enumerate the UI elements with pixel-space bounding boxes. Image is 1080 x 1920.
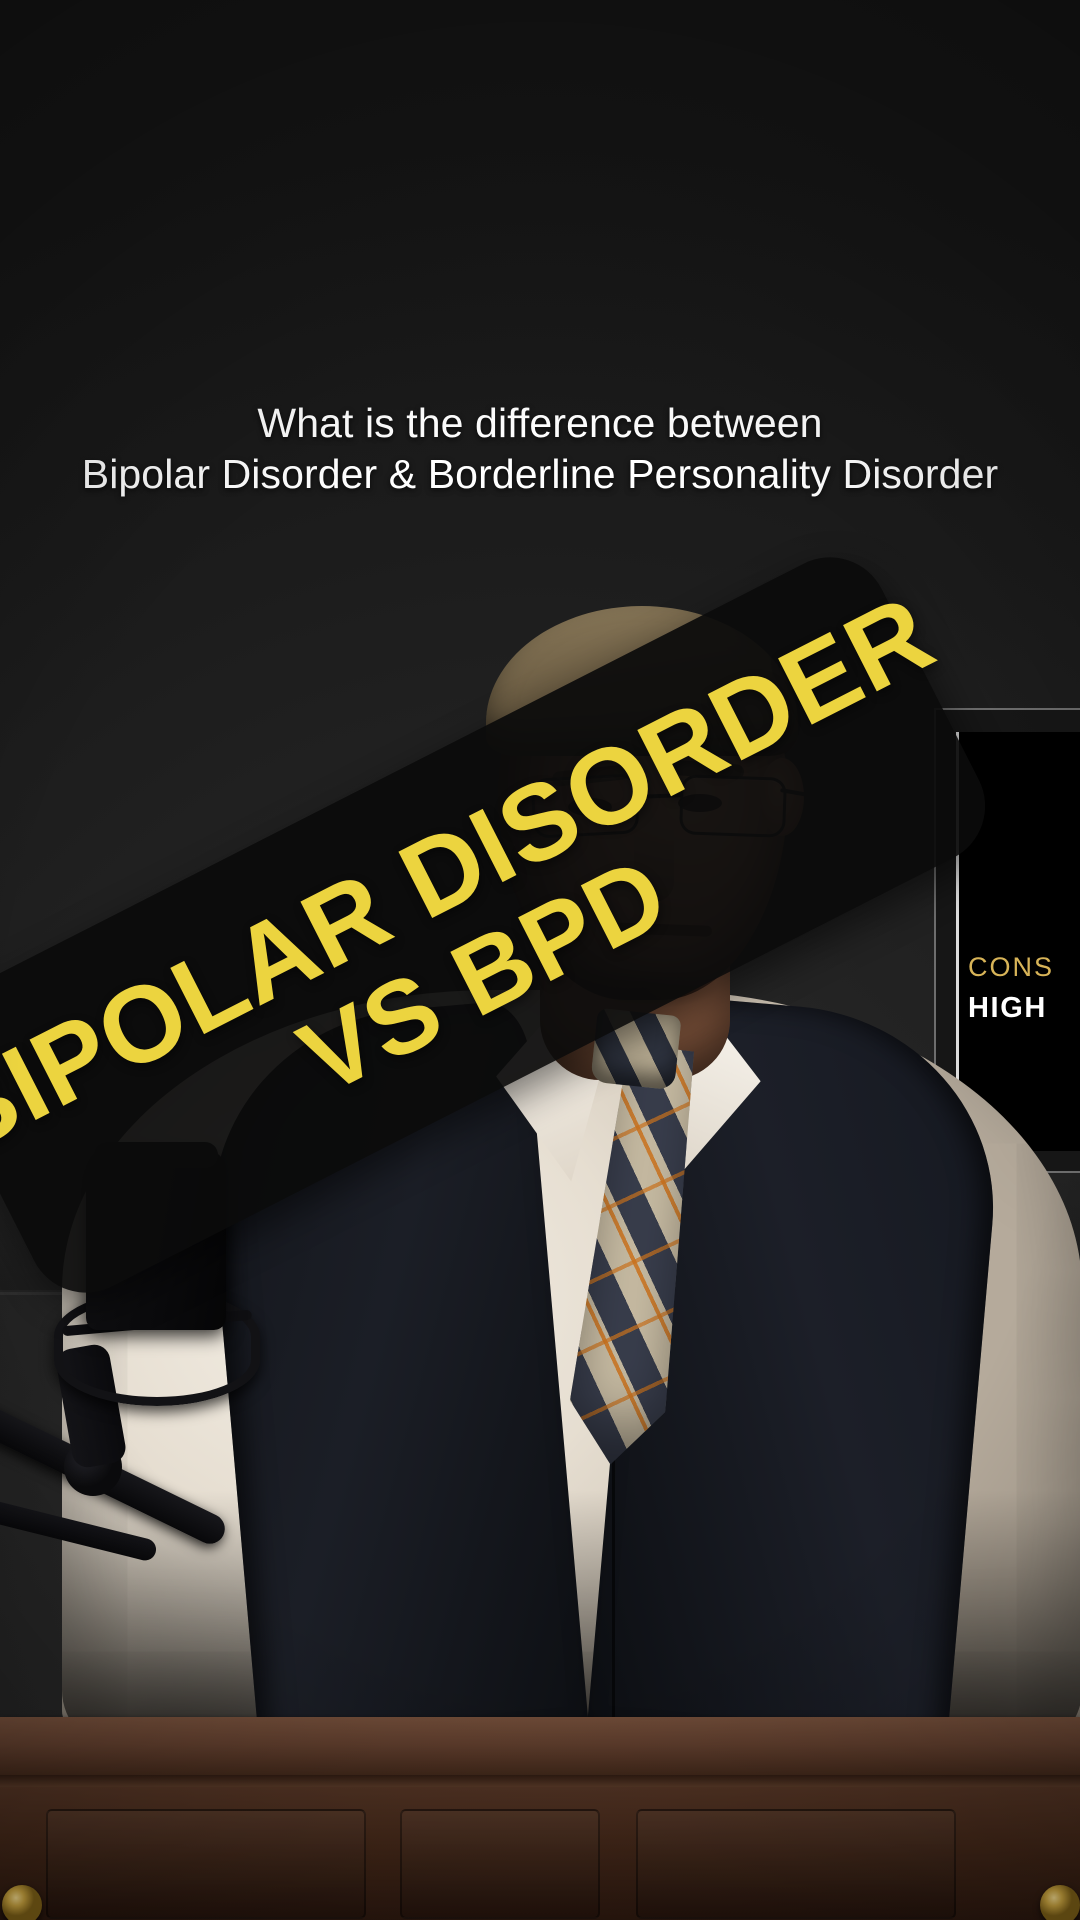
video-frame: What is the difference between Bipolar D… bbox=[0, 0, 1080, 1920]
frame-vignette bbox=[0, 0, 1080, 1920]
